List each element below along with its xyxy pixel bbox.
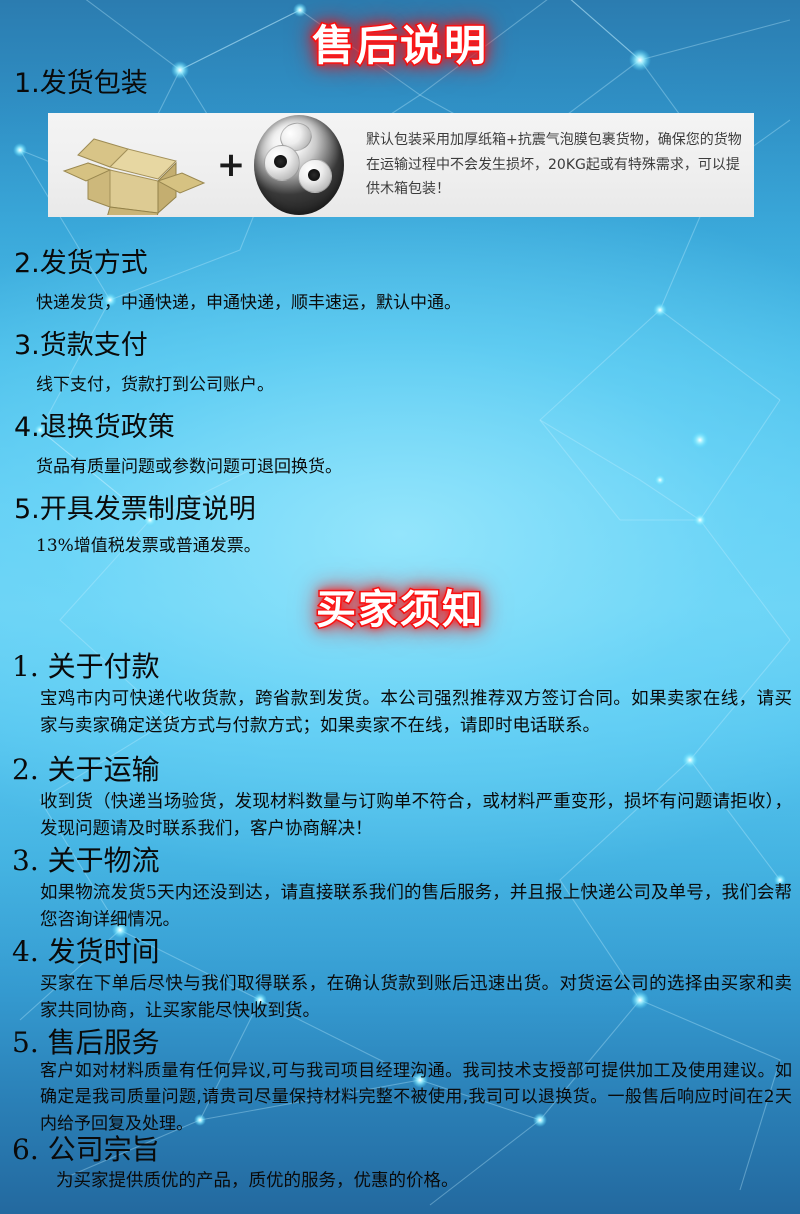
- notice-heading-company-purpose: 6. 公司宗旨: [12, 1128, 160, 1168]
- packaging-description-text: 默认包装采用加厚纸箱+抗震气泡膜包裹货物，确保您的货物在运输过程中不会发生损坏，…: [366, 128, 742, 202]
- cardboard-box-icon: [58, 115, 208, 215]
- notice-body-company-purpose: 为买家提供质优的产品，质优的服务，优惠的价格。: [56, 1168, 800, 1195]
- section-body-shipping-method: 快递发货，中通快递，申通快递，顺丰速运，默认中通。: [36, 288, 461, 313]
- notice-heading-transport: 2. 关于运输: [12, 748, 160, 788]
- notice-heading-logistics: 3. 关于物流: [12, 839, 160, 879]
- notice-heading-payment: 1. 关于付款: [12, 645, 160, 685]
- section-body-payment: 线下支付，货款打到公司账户。: [36, 370, 274, 395]
- plus-symbol: +: [208, 148, 254, 182]
- section-body-return-policy: 货品有质量问题或参数问题可退回换货。: [36, 452, 342, 477]
- after-sale-info-page: 售后说明 1.发货包装 + 默认包装采用加厚纸箱+抗震气泡膜包裹货物，确保您的货…: [0, 0, 800, 1214]
- section-heading-payment: 3.货款支付: [14, 323, 148, 362]
- notice-heading-ship-time: 4. 发货时间: [12, 930, 160, 970]
- buyer-notice-title: 买家须知: [0, 577, 800, 635]
- section-heading-shipping-method: 2.发货方式: [14, 241, 148, 280]
- notice-heading-after-sale-service: 5. 售后服务: [12, 1021, 160, 1061]
- notice-body-logistics: 如果物流发货5天内还没到达，请直接联系我们的售后服务，并且报上快递公司及单号，我…: [40, 880, 792, 934]
- notice-body-after-sale-service: 客户如对材料质量有任何异议,可与我司项目经理沟通。我司技术支授部可提供加工及使用…: [40, 1058, 792, 1137]
- section-body-invoice: 13%增值税发票或普通发票。: [36, 531, 261, 556]
- section-heading-invoice: 5.开具发票制度说明: [14, 487, 256, 526]
- notice-body-transport: 收到货（快递当场验货，发现材料数量与订购单不符合，或材料严重变形，损坏有问题请拒…: [40, 789, 792, 843]
- notice-body-payment: 宝鸡市内可快递代收货款，跨省款到发货。本公司强烈推荐双方签订合同。如果卖家在线，…: [40, 686, 792, 740]
- section-heading-return-policy: 4.退换货政策: [14, 405, 175, 444]
- notice-body-ship-time: 买家在下单后尽快与我们取得联系，在确认货款到账后迅速出货。对货运公司的选择由买家…: [40, 971, 792, 1025]
- foam-roll-photo: [254, 115, 344, 215]
- section-heading-shipping-packaging: 1.发货包装: [14, 61, 148, 100]
- packaging-illustration-panel: + 默认包装采用加厚纸箱+抗震气泡膜包裹货物，确保您的货物在运输过程中不会发生损…: [48, 113, 754, 217]
